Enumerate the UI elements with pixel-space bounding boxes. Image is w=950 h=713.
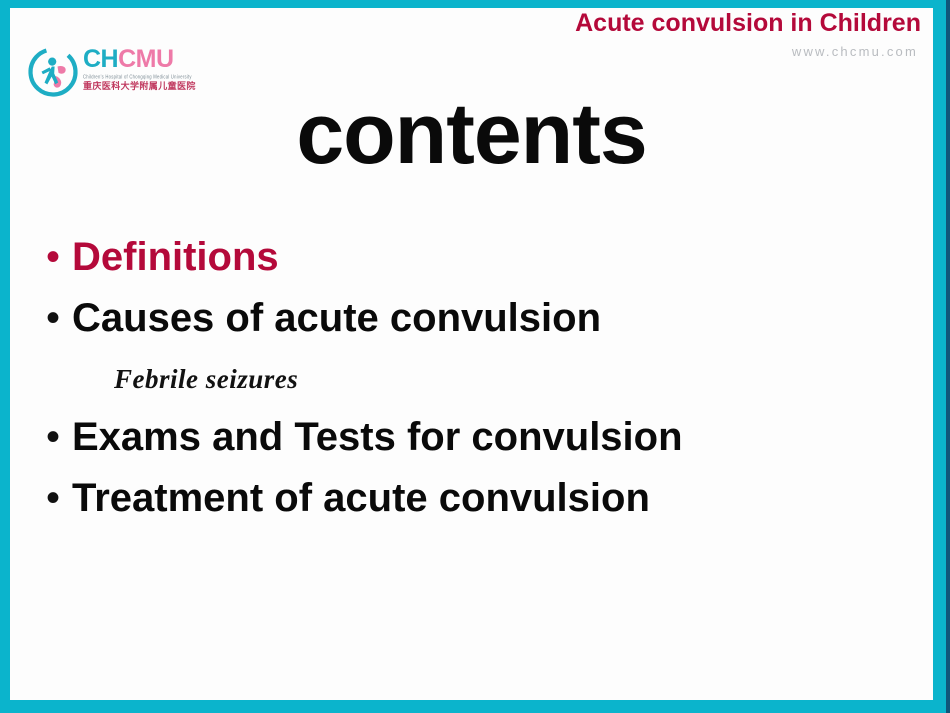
slide-title: contents xyxy=(10,86,933,182)
sub-note-label: Febrile seizures xyxy=(114,364,298,394)
logo-word-cmu: CMU xyxy=(118,45,173,73)
list-item-label-exams-tests: Exams and Tests for convulsion xyxy=(72,413,683,461)
list-item: • Treatment of acute convulsion xyxy=(36,474,896,535)
slide-header-title: Acute convulsion in Children xyxy=(575,9,921,38)
bullet-marker-icon: • xyxy=(36,237,72,277)
list-item-label-causes: Causes of acute convulsion xyxy=(72,294,601,342)
bullet-marker-icon: • xyxy=(36,478,72,518)
bullet-marker-icon: • xyxy=(36,417,72,457)
sub-note-febrile-seizures: Febrile seizures xyxy=(36,355,896,413)
bullet-marker-icon: • xyxy=(36,298,72,338)
list-item: • Definitions xyxy=(36,233,896,294)
list-item-label-treatment: Treatment of acute convulsion xyxy=(72,474,650,522)
chcmu-logo-text: CHCMU Children's Hospital of Chongqing M… xyxy=(83,46,198,91)
list-item-label-definitions: Definitions xyxy=(72,233,279,281)
logo-subtitle-english: Children's Hospital of Chongqing Medical… xyxy=(83,72,198,81)
logo-word-ch: CH xyxy=(83,45,118,73)
slide-canvas: Acute convulsion in Children www.chcmu.c… xyxy=(10,8,933,700)
contents-list: • Definitions • Causes of acute convulsi… xyxy=(36,233,896,535)
slide-header-url: www.chcmu.com xyxy=(792,44,918,59)
slide-right-edge-accent xyxy=(946,0,950,713)
chcmu-wordmark: CHCMU xyxy=(83,46,198,72)
list-item: • Causes of acute convulsion xyxy=(36,294,896,355)
list-item: • Exams and Tests for convulsion xyxy=(36,413,896,474)
presentation-slide: Acute convulsion in Children www.chcmu.c… xyxy=(0,0,950,713)
